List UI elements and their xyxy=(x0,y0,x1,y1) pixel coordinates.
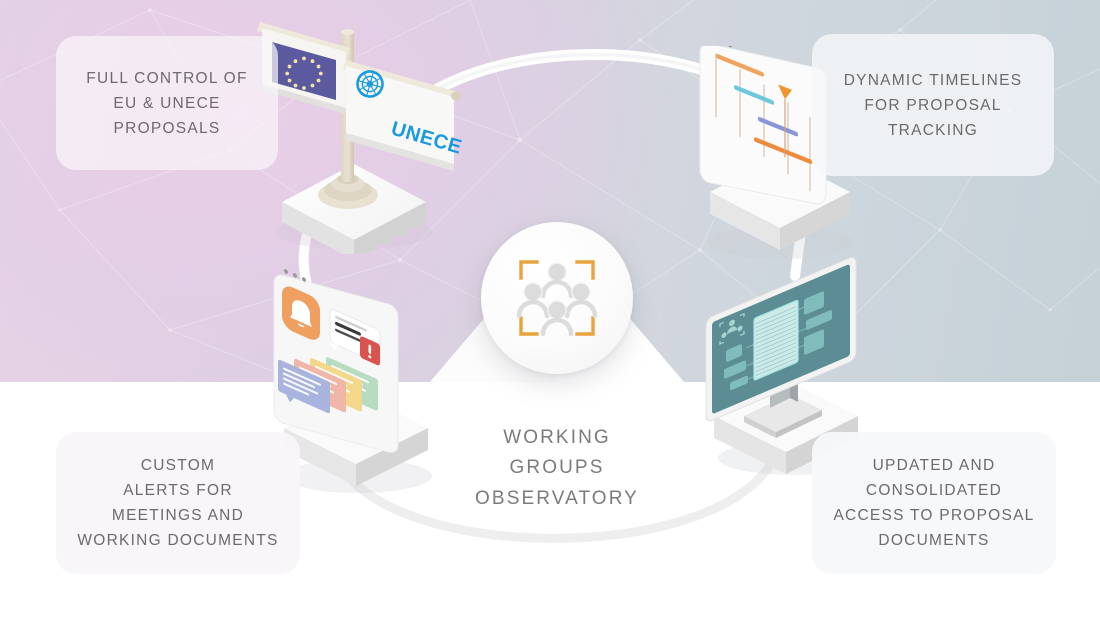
callout-full-control: FULL CONTROL OF EU & UNECE PROPOSALS xyxy=(56,36,278,170)
callout-custom-alerts-text: CUSTOM ALERTS FOR MEETINGS AND WORKING D… xyxy=(77,453,278,553)
callout-full-control-text: FULL CONTROL OF EU & UNECE PROPOSALS xyxy=(86,66,247,141)
unece-flag: UNECE xyxy=(343,60,464,171)
flags-illustration: UNECE xyxy=(246,4,466,254)
center-label-text: WORKING GROUPS OBSERVATORY xyxy=(430,423,684,515)
person-top xyxy=(543,263,571,296)
people-glyphs xyxy=(519,263,595,334)
center-label: WORKING GROUPS OBSERVATORY xyxy=(430,392,684,545)
callout-dynamic-timelines: DYNAMIC TIMELINES FOR PROPOSAL TRACKING xyxy=(812,34,1054,176)
callout-updated-access-text: UPDATED AND CONSOLIDATED ACCESS TO PROPO… xyxy=(833,453,1034,553)
callout-dynamic-timelines-text: DYNAMIC TIMELINES FOR PROPOSAL TRACKING xyxy=(844,68,1023,143)
infographic-stage: UNECE xyxy=(0,0,1100,619)
callout-updated-access: UPDATED AND CONSOLIDATED ACCESS TO PROPO… xyxy=(812,432,1056,574)
group-of-people-in-brackets-icon xyxy=(501,242,613,354)
callout-custom-alerts: CUSTOM ALERTS FOR MEETINGS AND WORKING D… xyxy=(56,432,300,574)
